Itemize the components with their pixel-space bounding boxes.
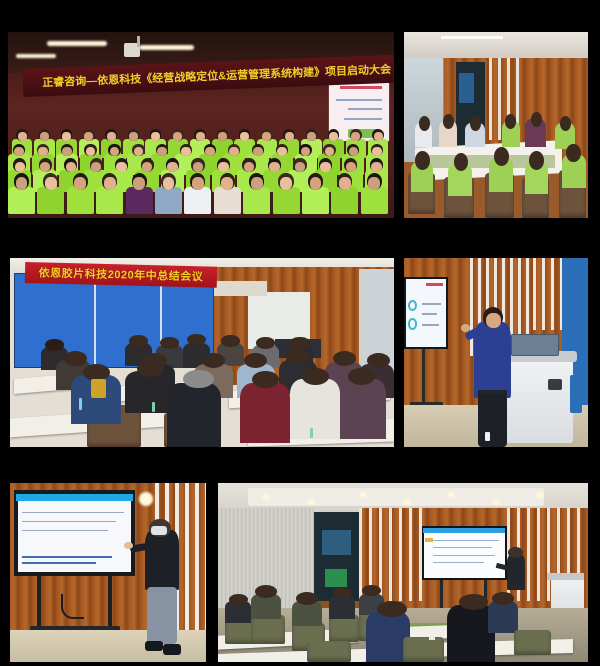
presentation-screen <box>422 526 507 580</box>
photo-collage: 正睿咨询—依恩科技《经营战略定位&运营管理系统构建》项目启动大会 <box>0 0 600 666</box>
photo-boardroom-discussion[interactable] <box>404 32 588 218</box>
photo-midyear-summary-meeting[interactable]: 依恩胶片科技2020年中总结会议 <box>10 258 394 447</box>
photo-speaker-podium[interactable] <box>404 258 588 447</box>
photo-group-kickoff[interactable]: 正睿咨询—依恩科技《经营战略定位&运营管理系统构建》项目启动大会 <box>8 32 394 218</box>
photo-classroom-presentation[interactable] <box>218 483 588 662</box>
whiteboard-toolbar <box>16 494 134 501</box>
midyear-banner-text: 依恩胶片科技2020年中总结会议 <box>39 264 204 284</box>
podium <box>500 356 574 443</box>
photo-presenter-whiteboard[interactable] <box>10 483 206 662</box>
presentation-screen-toolbar <box>423 528 504 533</box>
midyear-banner: 依恩胶片科技2020年中总结会议 <box>25 262 217 287</box>
